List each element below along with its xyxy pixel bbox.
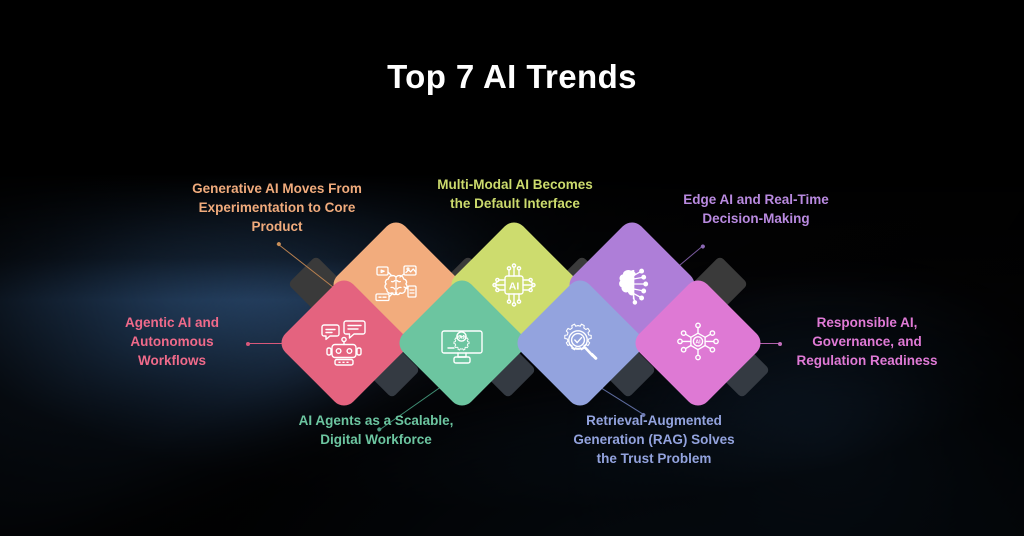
trend-label-agentic-ai: Agentic AI and Autonomous Workflows — [98, 313, 246, 370]
trend-label-line: Experimentation to Core — [164, 198, 390, 217]
trend-label-line: Regulation Readiness — [782, 351, 952, 370]
trend-label-line: AI Agents as a Scalable, — [272, 411, 480, 430]
trend-label-line: Multi-Modal AI Becomes — [406, 175, 624, 194]
trend-label-line: Edge AI and Real-Time — [650, 190, 862, 209]
trend-label-line: Governance, and — [782, 332, 952, 351]
brain-network-icon — [368, 257, 424, 313]
trend-label-line: Generation (RAG) Solves — [548, 430, 760, 449]
page-title: Top 7 AI Trends — [0, 58, 1024, 96]
trend-label-line: Autonomous — [98, 332, 246, 351]
svg-text:AI: AI — [459, 335, 465, 341]
trend-label-line: the Trust Problem — [548, 449, 760, 468]
trend-label-line: Workflows — [98, 351, 246, 370]
trend-label-line: Digital Workforce — [272, 430, 480, 449]
trend-label-line: Responsible AI, — [782, 313, 952, 332]
trend-label-responsible-ai: Responsible AI, Governance, and Regulati… — [782, 313, 952, 370]
svg-text:AI: AI — [695, 340, 701, 346]
trend-label-line: Agentic AI and — [98, 313, 246, 332]
trend-label-generative-ai: Generative AI Moves From Experimentation… — [164, 179, 390, 236]
trend-label-line: Retrieval-Augmented — [548, 411, 760, 430]
gear-magnifier-check-icon — [552, 315, 608, 371]
trend-label-multimodal-ai: Multi-Modal AI Becomes the Default Inter… — [406, 175, 624, 213]
network-hub-ai-icon: AI — [670, 315, 726, 371]
trend-label-ai-agents: AI Agents as a Scalable, Digital Workfor… — [272, 411, 480, 449]
trend-label-line: Product — [164, 217, 390, 236]
ai-chip-icon: AI — [486, 257, 542, 313]
chatbot-robot-icon — [316, 315, 372, 371]
trend-label-edge-ai: Edge AI and Real-Time Decision-Making — [650, 190, 862, 228]
trend-label-line: the Default Interface — [406, 194, 624, 213]
trend-label-line: Generative AI Moves From — [164, 179, 390, 198]
infographic-canvas: Top 7 AI Trends — [0, 0, 1024, 536]
svg-text:AI: AI — [509, 280, 520, 292]
brain-circuit-icon — [604, 257, 660, 313]
trend-label-line: Decision-Making — [650, 209, 862, 228]
trend-label-rag: Retrieval-Augmented Generation (RAG) Sol… — [548, 411, 760, 468]
monitor-gear-ai-icon: AI — [434, 315, 490, 371]
